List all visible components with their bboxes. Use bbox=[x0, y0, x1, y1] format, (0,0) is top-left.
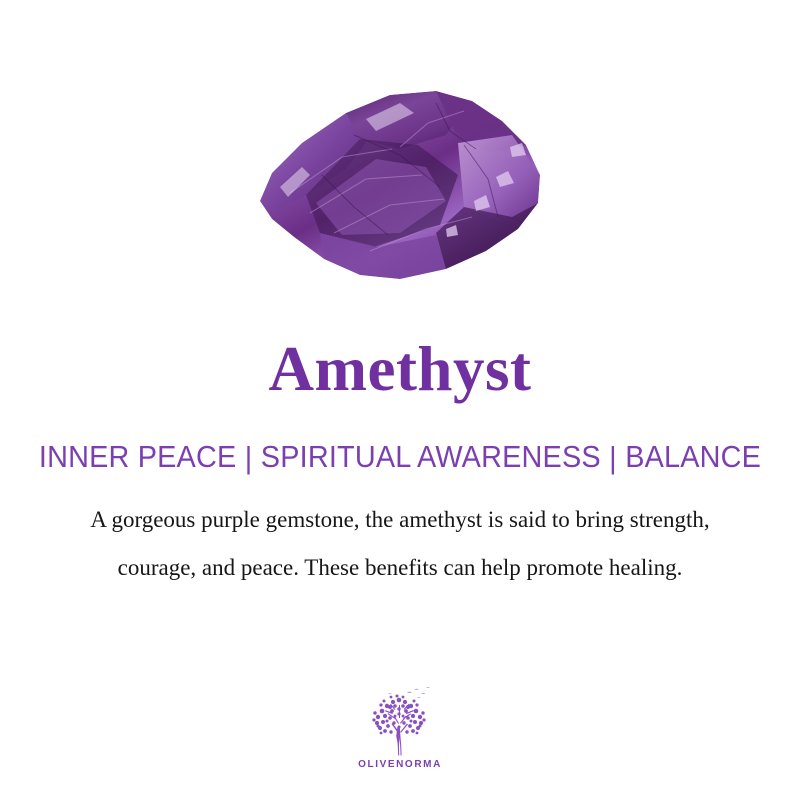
keyword-spiritual-awareness: SPIRITUAL AWARENESS bbox=[261, 439, 601, 474]
page-title: Amethyst bbox=[0, 336, 800, 402]
keyword-inner-peace: INNER PEACE bbox=[39, 439, 236, 474]
tree-of-life-icon bbox=[357, 683, 443, 757]
keyword-separator-1: | bbox=[245, 439, 253, 476]
keyword-row: INNER PEACE|SPIRITUAL AWARENESS|BALANCE bbox=[28, 438, 772, 475]
keyword-separator-2: | bbox=[609, 439, 617, 476]
gemstone-image bbox=[0, 78, 800, 303]
brand-name: OLIVENORMA bbox=[358, 759, 442, 770]
product-description: A gorgeous purple gemstone, the amethyst… bbox=[50, 496, 750, 592]
product-info-card: Amethyst INNER PEACE|SPIRITUAL AWARENESS… bbox=[0, 0, 800, 800]
keyword-balance: BALANCE bbox=[625, 439, 761, 474]
brand-logo: OLIVENORMA bbox=[0, 683, 800, 770]
amethyst-crystal-icon bbox=[250, 83, 550, 298]
